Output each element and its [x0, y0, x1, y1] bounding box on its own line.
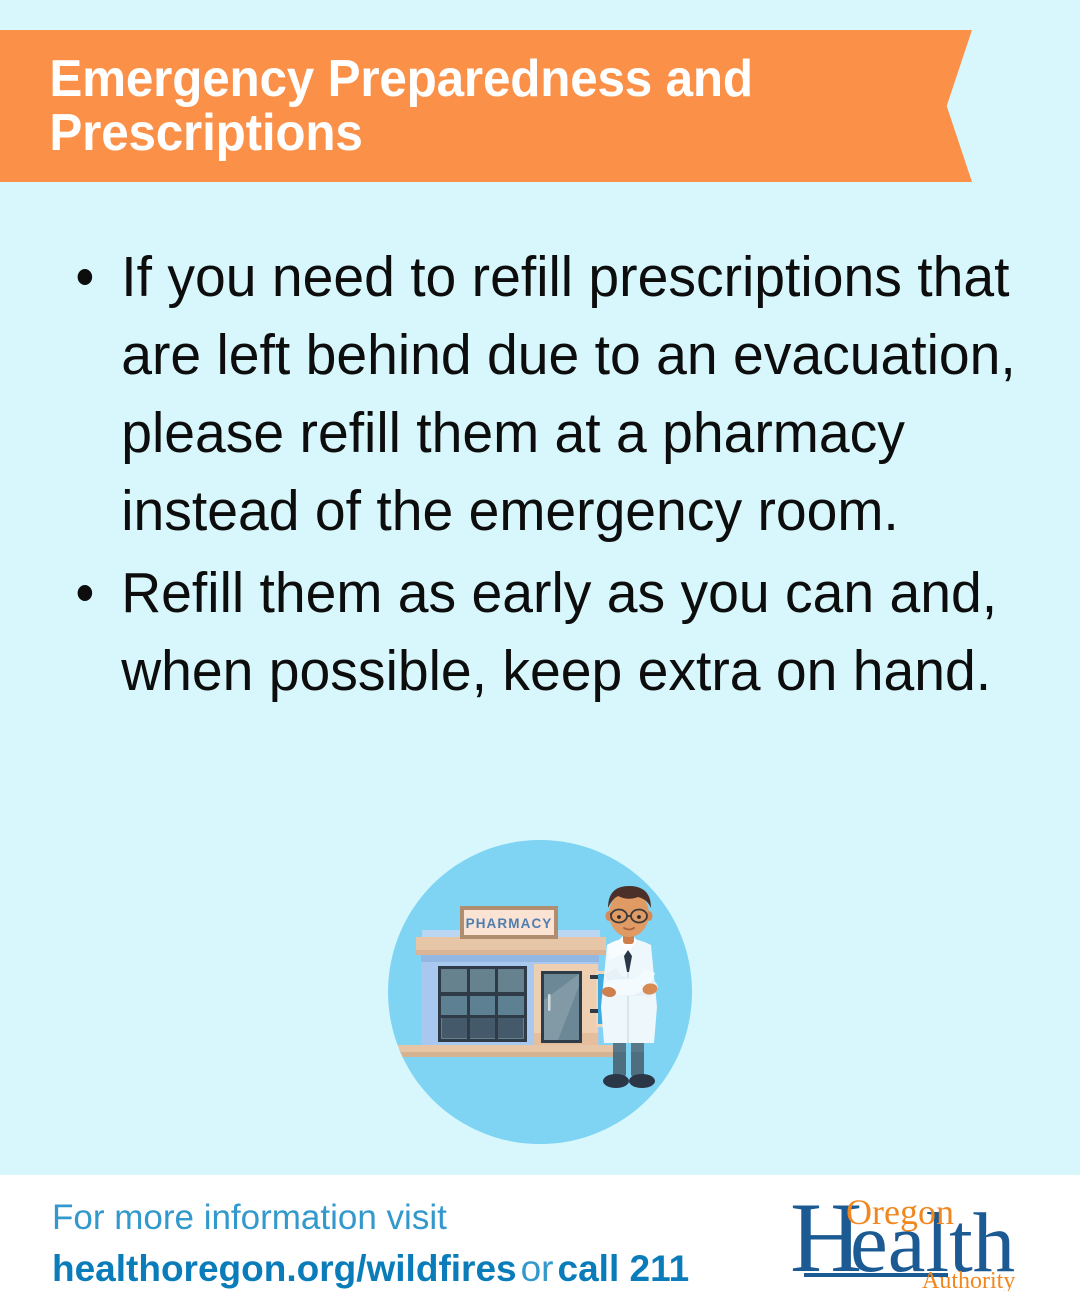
bullet-dot-icon	[78, 269, 93, 285]
bullet-text: Refill them as early as you can and, whe…	[121, 554, 1047, 710]
footer-text-block: For more information visit healthoregon.…	[52, 1197, 689, 1293]
oha-logo-graphic: H ealth Oregon Authority	[788, 1187, 1038, 1291]
header-banner: Emergency Preparedness and Prescriptions	[0, 30, 972, 182]
logo-word-oregon: Oregon	[846, 1192, 954, 1232]
footer-conjunction: or	[517, 1248, 558, 1289]
illustration-circle-backdrop: PHARMACY	[388, 840, 692, 1144]
logo-word-authority: Authority	[922, 1268, 1015, 1291]
pharmacy-sign-label: PHARMACY	[466, 916, 553, 931]
bullet-dot-icon	[78, 585, 93, 601]
poster-root: Emergency Preparedness and Prescriptions…	[0, 0, 1080, 1300]
oregon-health-authority-logo: H ealth Oregon Authority	[788, 1187, 1038, 1291]
footer-contact-line: healthoregon.org/wildfiresorcall 211	[52, 1245, 689, 1293]
phone-link[interactable]: call 211	[558, 1248, 690, 1289]
list-item: If you need to refill prescriptions that…	[0, 238, 1048, 550]
body-content: If you need to refill prescriptions that…	[0, 238, 1080, 710]
footer-prompt-text: For more information visit	[52, 1197, 689, 1239]
pharmacy-illustration: PHARMACY	[388, 840, 692, 1144]
bullet-list: If you need to refill prescriptions that…	[0, 238, 1080, 710]
page-title: Emergency Preparedness and Prescriptions	[0, 52, 753, 160]
footer: For more information visit healthoregon.…	[0, 1175, 1080, 1300]
website-link[interactable]: healthoregon.org/wildfires	[52, 1248, 517, 1289]
pharmacy-scene-graphic: PHARMACY	[388, 840, 692, 1144]
list-item: Refill them as early as you can and, whe…	[0, 554, 1048, 710]
bullet-text: If you need to refill prescriptions that…	[121, 238, 1047, 550]
